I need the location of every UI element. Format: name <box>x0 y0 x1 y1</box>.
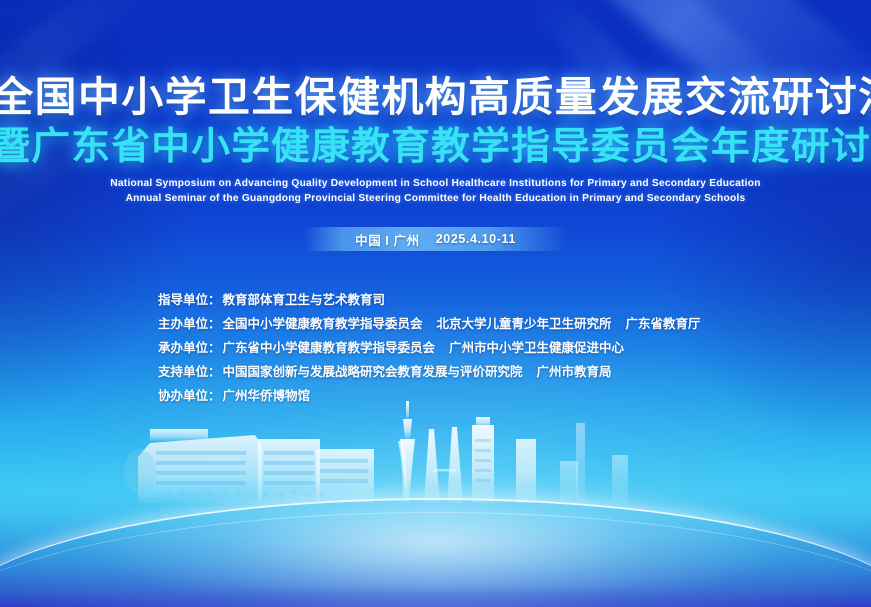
organization-row: 承办单位：广东省中小学健康教育教学指导委员会广州市中小学卫生健康促进中心 <box>158 336 778 360</box>
conference-poster: 全国中小学卫生保健机构高质量发展交流研讨活动 暨广东省中小学健康教育教学指导委员… <box>0 0 871 607</box>
organization-name: 全国中小学健康教育教学指导委员会 <box>223 317 423 331</box>
organization-label: 主办单位： <box>158 317 221 331</box>
poster-title-primary: 全国中小学卫生保健机构高质量发展交流研讨活动 <box>0 74 871 120</box>
poster-title-block: 全国中小学卫生保健机构高质量发展交流研讨活动 暨广东省中小学健康教育教学指导委员… <box>0 74 871 169</box>
event-info-banner: 中国 I 广州 2025.4.10-11 <box>304 227 568 251</box>
organization-row: 指导单位：教育部体育卫生与艺术教育司 <box>158 288 778 312</box>
cityscape-skyline-icon <box>0 399 871 529</box>
event-date: 2025.4.10-11 <box>436 232 516 246</box>
horizon-glow <box>86 470 786 590</box>
organization-label: 协办单位： <box>158 389 221 403</box>
poster-title-secondary: 暨广东省中小学健康教育教学指导委员会年度研讨活动 <box>0 125 871 169</box>
horizon-arc-secondary <box>0 512 871 607</box>
organization-name: 教育部体育卫生与艺术教育司 <box>223 293 386 307</box>
organization-name: 广东省中小学健康教育教学指导委员会 <box>223 341 436 355</box>
organization-label: 支持单位： <box>158 365 221 379</box>
organization-row: 协办单位：广州华侨博物馆 <box>158 384 778 408</box>
poster-subtitle-block: National Symposium on Advancing Quality … <box>0 176 871 206</box>
organization-name: 广东省教育厅 <box>626 317 701 331</box>
organization-name: 北京大学儿童青少年卫生研究所 <box>437 317 612 331</box>
organization-label: 指导单位： <box>158 293 221 307</box>
poster-subtitle-line-2: Annual Seminar of the Guangdong Provinci… <box>13 191 858 206</box>
organization-list: 指导单位：教育部体育卫生与艺术教育司主办单位：全国中小学健康教育教学指导委员会北… <box>158 288 778 408</box>
organization-row: 主办单位：全国中小学健康教育教学指导委员会北京大学儿童青少年卫生研究所广东省教育… <box>158 312 778 336</box>
horizon-arc <box>0 498 871 607</box>
organization-name: 广州华侨博物馆 <box>223 389 311 403</box>
event-location: 中国 I 广州 <box>355 230 420 249</box>
organization-name: 广州市中小学卫生健康促进中心 <box>449 341 624 355</box>
organization-label: 承办单位： <box>158 341 221 355</box>
poster-subtitle-line-1: National Symposium on Advancing Quality … <box>13 176 858 191</box>
organization-row: 支持单位：中国国家创新与发展战略研究会教育发展与评价研究院广州市教育局 <box>158 360 778 384</box>
organization-name: 广州市教育局 <box>537 365 612 379</box>
organization-name: 中国国家创新与发展战略研究会教育发展与评价研究院 <box>223 365 523 379</box>
